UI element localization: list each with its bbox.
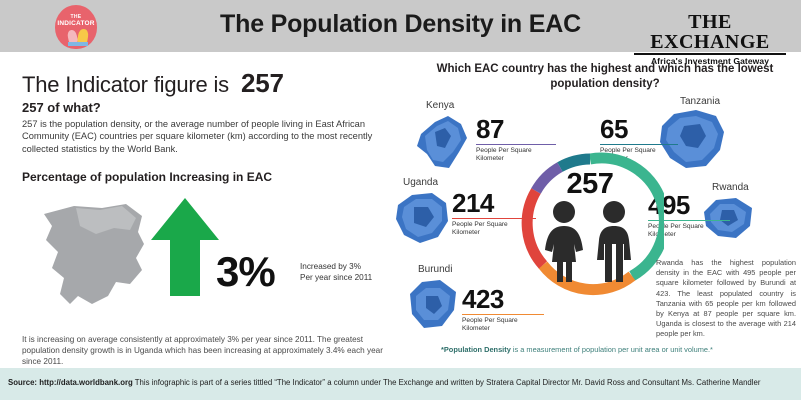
note-bold-term: *Population Density [441,345,511,354]
header-bar: THE INDICATOR The Population Density in … [0,0,801,52]
stat-unit-burundi: People Per Square Kilometer [462,317,524,334]
percent-note-line2: Per year since 2011 [300,273,372,284]
footer-credit: This infographic is part of a series tit… [133,378,761,387]
country-label-rwanda: Rwanda [712,182,749,193]
footer-source: Source: http://data.worldbank.org [8,378,133,387]
subheading-257-of-what: 257 of what? [22,100,101,115]
the-exchange-logo: THE EXCHANGE Africa's Investment Gateway [630,12,790,66]
percent-note: Increased by 3% Per year since 2011 [300,262,372,283]
burundi-map-icon [404,276,462,334]
percent-note-line1: Increased by 3% [300,262,372,273]
country-label-uganda: Uganda [403,177,438,188]
eac-region-map-icon [30,192,160,322]
indicator-headline-text: The Indicator figure is [22,72,229,97]
population-density-definition-note: *Population Density is a measurement of … [441,345,713,354]
percent-value: 3% [216,248,275,296]
country-label-kenya: Kenya [426,100,454,111]
uganda-map-icon [392,189,452,247]
brand-name: THE EXCHANGE [630,12,790,52]
stat-value-uganda: 214 [452,188,494,219]
indicator-headline-figure: 257 [241,68,284,98]
country-label-burundi: Burundi [418,264,452,275]
people-pictogram-icon [534,200,646,284]
section-title-percentage: Percentage of population Increasing in E… [22,170,272,184]
kenya-map-icon [415,112,471,172]
donut-segment-tanzania [560,159,590,167]
logo-base-bar [68,42,88,46]
stat-unit-uganda: People Per Square Kilometer [452,221,514,238]
note-rest-text: is a measurement of population per unit … [511,345,713,354]
up-arrow-icon [150,196,220,296]
left-footnote-paragraph: It is increasing on average consistently… [22,334,394,367]
right-panel-heading: Which EAC country has the highest and wh… [420,62,790,92]
right-panel-paragraph: Rwanda has the highest population densit… [656,258,796,340]
country-label-tanzania: Tanzania [680,96,720,107]
percentage-increase-group: 3% Increased by 3% Per year since 2011 [150,196,400,316]
intro-paragraph: 257 is the population density, or the av… [22,118,382,155]
indicator-headline: The Indicator figure is257 [22,68,284,99]
stat-rule-kenya [476,144,556,145]
stat-value-burundi: 423 [462,284,504,315]
footer-bar: Source: http://data.worldbank.org This i… [0,368,801,400]
infographic-page: THE INDICATOR The Population Density in … [0,0,801,400]
donut-center-value: 257 [516,168,664,201]
footer-text: Source: http://data.worldbank.org This i… [8,378,798,387]
brand-divider [634,53,786,55]
stat-value-kenya: 87 [476,114,504,145]
stat-rule-tanzania [600,144,678,145]
stat-value-tanzania: 65 [600,114,628,145]
tanzania-map-icon [656,108,728,172]
stat-rule-burundi [462,314,544,315]
